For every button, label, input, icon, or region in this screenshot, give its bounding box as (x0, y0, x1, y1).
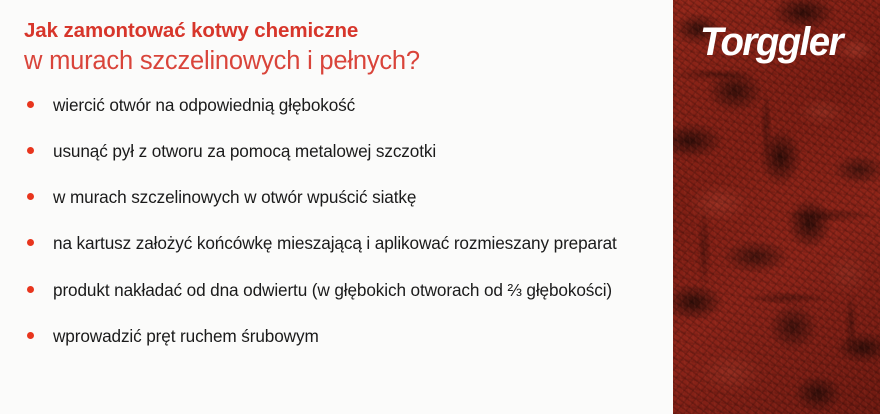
brand-texture-panel: Torggler (673, 0, 880, 414)
list-item: na kartusz założyć końcówkę mieszającą i… (24, 230, 652, 256)
list-item-label: produkt nakładać od dna odwiertu (w głęb… (53, 277, 652, 303)
list-item: wiercić otwór na odpowiednią głębokość (24, 92, 652, 118)
list-item-label: usunąć pył z otworu za pomocą metalowej … (53, 138, 652, 164)
page-title-line-2: w murach szczelinowych i pełnych? (24, 45, 654, 78)
content-column: Jak zamontować kotwy chemiczne w murach … (0, 0, 673, 414)
list-item-label: wprowadzić pręt ruchem śrubowym (53, 323, 652, 349)
slide-canvas: Jak zamontować kotwy chemiczne w murach … (0, 0, 880, 414)
instruction-list: wiercić otwór na odpowiednią głębokość u… (24, 92, 652, 349)
list-item-label: wiercić otwór na odpowiednią głębokość (53, 92, 652, 118)
list-item: wprowadzić pręt ruchem śrubowym (24, 323, 652, 349)
title-block: Jak zamontować kotwy chemiczne w murach … (24, 19, 654, 78)
bullet-dot-icon (27, 239, 34, 246)
list-item-label: w murach szczelinowych w otwór wpuścić s… (53, 184, 652, 210)
bullet-dot-icon (27, 101, 34, 108)
bullet-dot-icon (27, 193, 34, 200)
bullet-dot-icon (27, 147, 34, 154)
list-item: usunąć pył z otworu za pomocą metalowej … (24, 138, 652, 164)
list-item: produkt nakładać od dna odwiertu (w głęb… (24, 277, 652, 303)
list-item: w murach szczelinowych w otwór wpuścić s… (24, 184, 652, 210)
torggler-logo: Torggler (700, 22, 842, 62)
page-title-line-1: Jak zamontować kotwy chemiczne (24, 19, 654, 43)
bullet-dot-icon (27, 332, 34, 339)
list-item-label: na kartusz założyć końcówkę mieszającą i… (53, 230, 652, 256)
bullet-dot-icon (27, 286, 34, 293)
